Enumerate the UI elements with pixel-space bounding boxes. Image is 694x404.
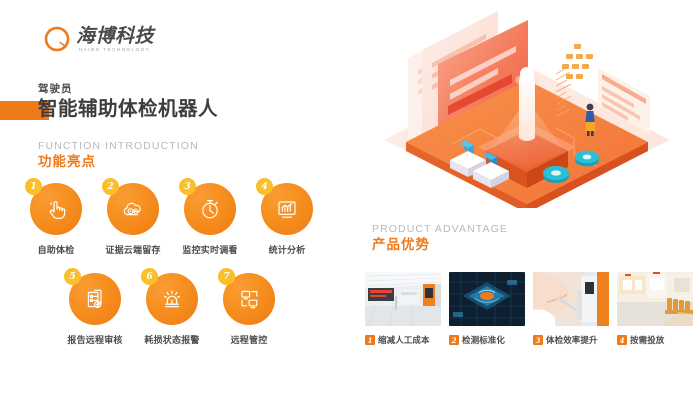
network-monitors-icon bbox=[236, 286, 262, 312]
feature-item-3[interactable]: 3 监控实时调看 bbox=[182, 183, 238, 256]
feature-item-2[interactable]: 2 证据云端留存 bbox=[105, 183, 161, 256]
isometric-robot-health-check-scene bbox=[360, 8, 694, 208]
feature-number-1: 1 bbox=[25, 178, 42, 195]
feature-item-4[interactable]: 4 统计分析 bbox=[259, 183, 315, 256]
advantage-label-3: 体检效率提升 bbox=[546, 334, 598, 346]
inspection-hall-photo bbox=[365, 272, 441, 326]
feature-label-2: 证据云端留存 bbox=[97, 243, 169, 256]
feature-item-5[interactable]: 5 报告远程审核 bbox=[67, 273, 123, 346]
advantage-card-3[interactable]: 3 体检效率提升 bbox=[533, 272, 609, 346]
feature-number-4: 4 bbox=[256, 178, 273, 195]
function-heading-en: FUNCTION INTRODUCTION bbox=[38, 139, 199, 153]
feature-number-6: 6 bbox=[141, 268, 158, 285]
waiting-room-photo bbox=[617, 272, 693, 326]
right-panel: PRODUCT ADVANTAGE 产品优势 bbox=[360, 0, 694, 404]
alarm-light-icon bbox=[159, 286, 185, 312]
haibo-circle-logo-icon bbox=[44, 26, 70, 52]
feature-circle-3[interactable]: 3 bbox=[184, 183, 236, 235]
feature-circle-5[interactable]: 5 bbox=[69, 273, 121, 325]
advantage-badge-1: 1 bbox=[365, 335, 375, 345]
advantage-heading-cn: 产品优势 bbox=[372, 237, 508, 254]
feature-number-7: 7 bbox=[218, 268, 235, 285]
advantage-card-4[interactable]: 4 按需投放 bbox=[617, 272, 693, 346]
advantage-card-1[interactable]: 1 缩减人工成本 bbox=[365, 272, 441, 346]
feature-label-3: 监控实时调看 bbox=[174, 243, 246, 256]
advantage-badge-2: 2 bbox=[449, 335, 459, 345]
feature-circle-1[interactable]: 1 bbox=[30, 183, 82, 235]
advantage-label-4: 按需投放 bbox=[630, 334, 664, 346]
advantage-label-1: 缩减人工成本 bbox=[378, 334, 430, 346]
advantage-card-list: 1 缩减人工成本 bbox=[365, 272, 693, 346]
logo-company-name-en: HAIBO TECHNOLOGY bbox=[76, 47, 154, 52]
title-eyebrow: 驾驶员 bbox=[38, 83, 218, 96]
feature-number-5: 5 bbox=[64, 268, 81, 285]
feature-circle-6[interactable]: 6 bbox=[146, 273, 198, 325]
stopwatch-icon bbox=[197, 196, 223, 222]
advantage-heading-en: PRODUCT ADVANTAGE bbox=[372, 222, 508, 236]
feature-circle-7[interactable]: 7 bbox=[223, 273, 275, 325]
feature-label-7: 远程管控 bbox=[221, 333, 277, 346]
feature-number-3: 3 bbox=[179, 178, 196, 195]
feature-label-5: 报告远程审核 bbox=[59, 333, 131, 346]
presentation-slide: 海博科技 HAIBO TECHNOLOGY 驾驶员 智能辅助体检机器人 FUNC… bbox=[0, 0, 694, 404]
feature-item-1[interactable]: 1 自助体检 bbox=[28, 183, 84, 256]
advantage-card-2[interactable]: 2 检测标准化 bbox=[449, 272, 525, 346]
advantage-section-heading: PRODUCT ADVANTAGE 产品优势 bbox=[372, 222, 508, 254]
feature-item-6[interactable]: 6 耗损状态报警 bbox=[144, 273, 200, 346]
feature-label-1: 自助体检 bbox=[28, 243, 84, 256]
feature-row-1: 1 自助体检 2 bbox=[28, 183, 315, 256]
advantage-label-2: 检测标准化 bbox=[462, 334, 505, 346]
feature-row-2: 5 报告远程审核 bbox=[67, 273, 277, 346]
hand-tap-icon bbox=[43, 196, 69, 222]
feature-circle-2[interactable]: 2 bbox=[107, 183, 159, 235]
function-heading-cn: 功能亮点 bbox=[38, 154, 199, 171]
advantage-badge-3: 3 bbox=[533, 335, 543, 345]
logo-company-name-cn: 海博科技 bbox=[76, 26, 154, 46]
brand-logo: 海博科技 HAIBO TECHNOLOGY bbox=[44, 26, 154, 52]
bar-chart-monitor-icon bbox=[274, 196, 300, 222]
function-section-heading: FUNCTION INTRODUCTION 功能亮点 bbox=[38, 139, 199, 171]
feature-item-7[interactable]: 7 远程管控 bbox=[221, 273, 277, 346]
page-title: 驾驶员 智能辅助体检机器人 bbox=[38, 83, 218, 121]
advantage-badge-4: 4 bbox=[617, 335, 627, 345]
person-profile-photo bbox=[533, 272, 609, 326]
cloud-media-icon bbox=[120, 196, 146, 222]
feature-label-6: 耗损状态报警 bbox=[136, 333, 208, 346]
title-main: 智能辅助体检机器人 bbox=[38, 97, 218, 121]
document-review-icon bbox=[82, 286, 108, 312]
feature-label-4: 统计分析 bbox=[259, 243, 315, 256]
feature-number-2: 2 bbox=[102, 178, 119, 195]
left-panel: 海博科技 HAIBO TECHNOLOGY 驾驶员 智能辅助体检机器人 FUNC… bbox=[0, 0, 360, 404]
circuit-chip-photo bbox=[449, 272, 525, 326]
feature-circle-4[interactable]: 4 bbox=[261, 183, 313, 235]
